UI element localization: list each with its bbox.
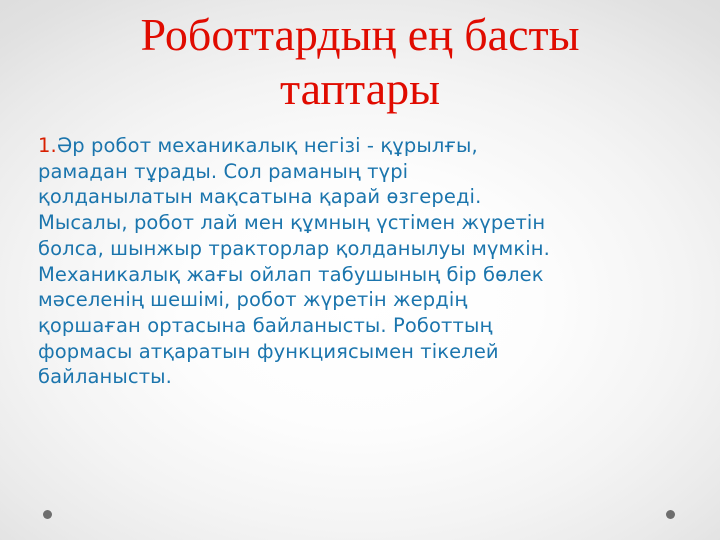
body-line-4: Мысалы, робот лай мен құмның үстімен жүр… [38, 210, 678, 236]
slide-body-text: 1.Әр робот механикалық негізі - құрылғы,… [38, 133, 678, 390]
body-line-3: қолданылатын мақсатына қарай өзгереді. [38, 184, 678, 210]
body-line-2: рамадан тұрады. Сол раманың түрі [38, 159, 678, 185]
body-line-1: 1.Әр робот механикалық негізі - құрылғы, [38, 133, 678, 159]
slide-canvas: Роботтардың ең басты таптары 1.Әр робот … [0, 0, 720, 540]
decorative-dot-left-icon [43, 510, 52, 519]
body-line-9: формасы атқаратын функциясымен тікелей [38, 339, 678, 365]
body-line-1-text: Әр робот механикалық негізі - құрылғы, [57, 134, 478, 157]
body-line-10: байланысты. [38, 364, 678, 390]
body-line-6: Механикалық жағы ойлап табушының бір бөл… [38, 262, 678, 288]
decorative-dot-right-icon [666, 510, 675, 519]
slide-title-line-1: Роботтардың ең басты [36, 8, 684, 62]
slide-title-line-2: таптары [36, 62, 684, 116]
body-line-5: болса, шынжыр тракторлар қолданылуы мүмк… [38, 236, 678, 262]
body-line-7: мәселенің шешімі, робот жүретін жердің [38, 287, 678, 313]
list-number-marker: 1. [38, 134, 57, 157]
slide-title: Роботтардың ең басты таптары [36, 8, 684, 116]
body-line-8: қоршаған ортасына байланысты. Роботтың [38, 313, 678, 339]
